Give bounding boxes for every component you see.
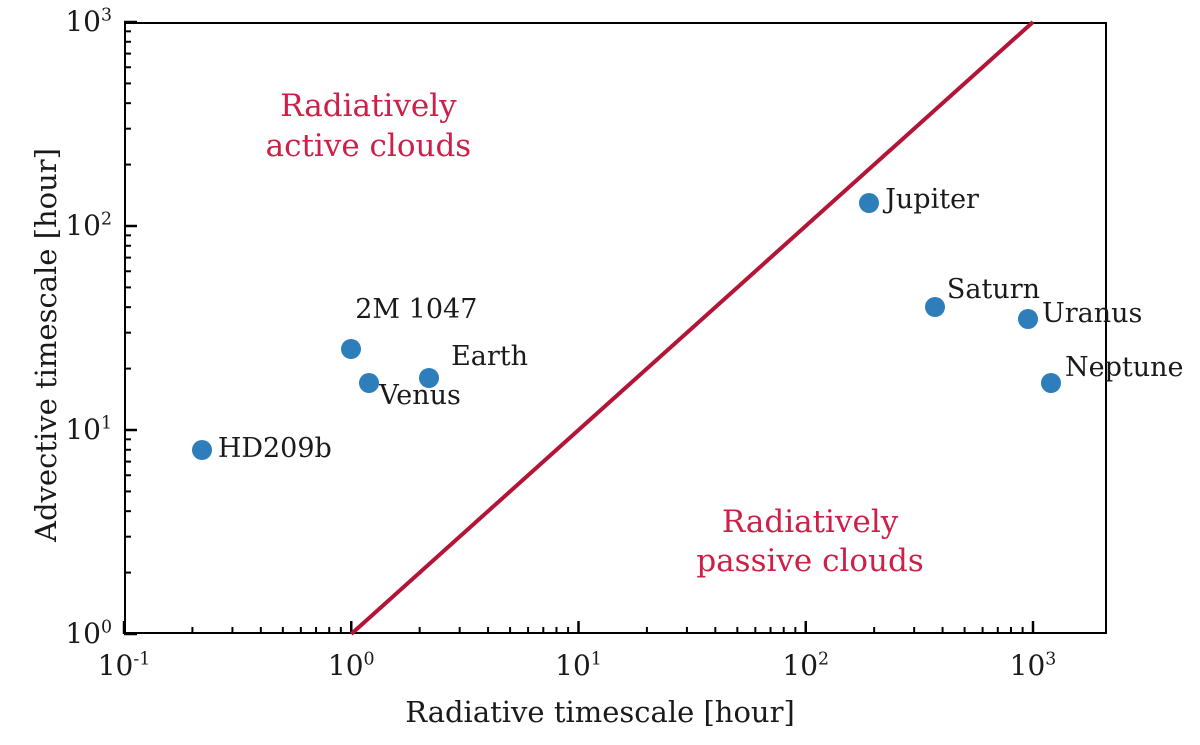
data-point-marker[interactable]: [419, 368, 439, 388]
data-point-marker[interactable]: [859, 193, 879, 213]
data-point-marker[interactable]: [925, 297, 945, 317]
data-point-marker[interactable]: [192, 440, 212, 460]
y-tick-label: 100: [65, 620, 112, 648]
annotation-line: passive clouds: [696, 542, 923, 582]
data-point-label: Jupiter: [885, 186, 979, 213]
annotation-line: Radiatively: [266, 87, 472, 127]
radiatively-active-clouds: Radiativelyactive clouds: [266, 87, 472, 166]
data-point-label: Venus: [379, 382, 461, 409]
y-axis-title: Advective timescale [hour]: [29, 39, 63, 651]
data-point-label: Neptune: [1065, 354, 1184, 381]
x-tick-label: 102: [782, 652, 829, 680]
x-tick-label: 10-1: [98, 652, 151, 680]
y-tick-label: 102: [65, 212, 112, 240]
data-point-label: Earth: [451, 343, 528, 370]
x-axis-title: Radiative timescale [hour]: [0, 695, 1200, 729]
x-tick-label: 103: [1010, 652, 1057, 680]
data-point-label: 2M 1047: [355, 296, 477, 323]
radiatively-passive-clouds: Radiativelypassive clouds: [696, 503, 923, 582]
data-point-label: Uranus: [1042, 300, 1142, 327]
y-tick-label: 101: [65, 416, 112, 444]
x-tick-label: 100: [328, 652, 375, 680]
scatter-chart-figure: 10-1100101102103 100101102103 Radiative …: [0, 0, 1200, 745]
y-tick-label: 103: [65, 8, 112, 36]
data-point-marker[interactable]: [341, 339, 361, 359]
data-point-marker[interactable]: [1041, 373, 1061, 393]
annotation-line: active clouds: [266, 127, 472, 167]
data-point-label: Saturn: [947, 276, 1040, 303]
data-point-label: HD209b: [218, 435, 332, 462]
data-point-marker[interactable]: [1018, 309, 1038, 329]
x-tick-label: 101: [555, 652, 602, 680]
annotation-line: Radiatively: [696, 503, 923, 543]
